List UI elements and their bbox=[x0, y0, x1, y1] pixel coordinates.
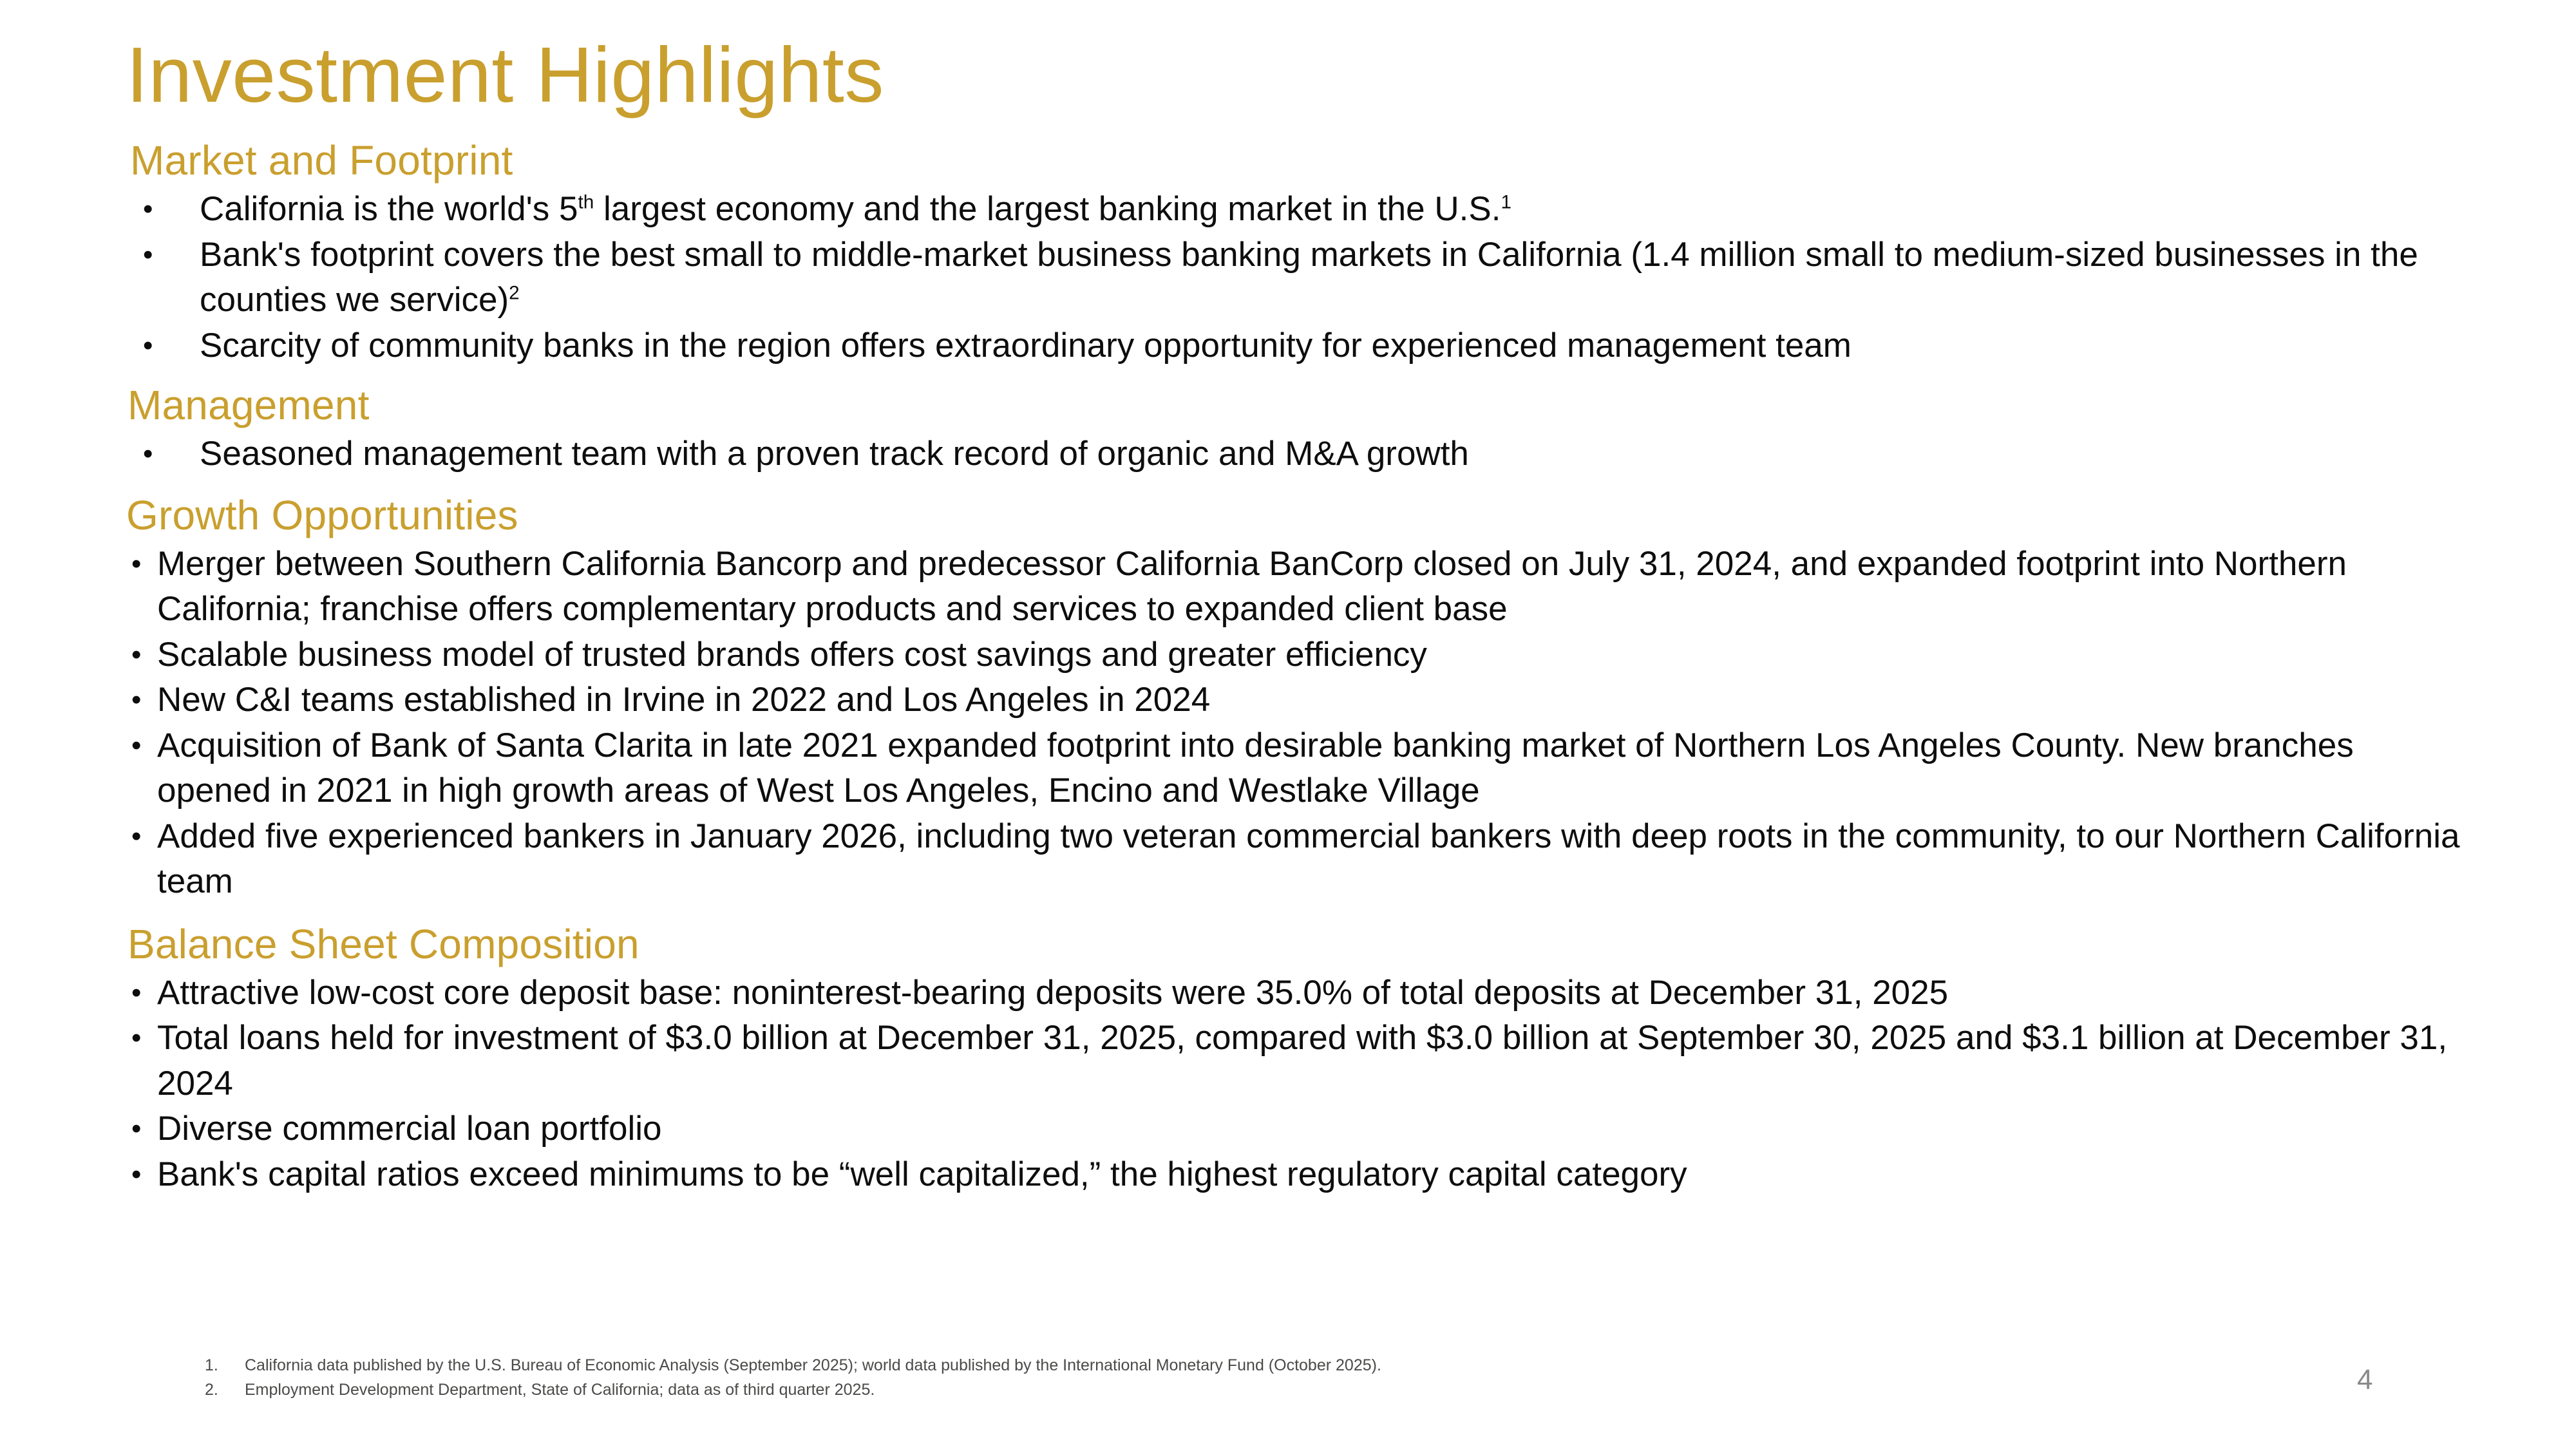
bullet-dot-icon: • bbox=[131, 1106, 143, 1151]
section-heading-growth-opportunities: Growth Opportunities bbox=[126, 490, 2470, 542]
footnote-text: California data published by the U.S. Bu… bbox=[245, 1354, 2201, 1378]
list-item-text: Attractive low-cost core deposit base: n… bbox=[157, 971, 2470, 1016]
footnote-row: 1. California data published by the U.S.… bbox=[205, 1354, 2201, 1378]
page-title: Investment Highlights bbox=[126, 33, 884, 116]
list-item: • Attractive low-cost core deposit base:… bbox=[126, 971, 2470, 1016]
section-balance-sheet-composition: Balance Sheet Composition • Attractive l… bbox=[126, 919, 2470, 1198]
footnote-marker: th bbox=[578, 191, 594, 213]
list-item: • Acquisition of Bank of Santa Clarita i… bbox=[126, 723, 2470, 814]
bullet-dot-icon: • bbox=[131, 971, 143, 1016]
bullet-dot-icon: • bbox=[143, 323, 155, 368]
footnote-text: Employment Development Department, State… bbox=[245, 1378, 2201, 1403]
footnote-marker: 2 bbox=[509, 282, 520, 303]
section-heading-management: Management bbox=[128, 380, 2470, 431]
bullet-list-market-and-footprint: • California is the world's 5th largest … bbox=[126, 187, 2470, 368]
list-item: • Diverse commercial loan portfolio bbox=[126, 1106, 2470, 1151]
bullet-dot-icon: • bbox=[143, 431, 155, 477]
list-item: • California is the world's 5th largest … bbox=[126, 187, 2470, 232]
list-item: • Added five experienced bankers in Janu… bbox=[126, 814, 2470, 905]
list-item: • Merger between Southern California Ban… bbox=[126, 542, 2470, 632]
footnotes: 1. California data published by the U.S.… bbox=[205, 1354, 2201, 1402]
list-item-text: Acquisition of Bank of Santa Clarita in … bbox=[157, 723, 2470, 814]
bullet-list-management: • Seasoned management team with a proven… bbox=[126, 431, 2470, 477]
list-item: • Seasoned management team with a proven… bbox=[126, 431, 2470, 477]
section-management: Management • Seasoned management team wi… bbox=[126, 380, 2470, 477]
footnote-number: 1. bbox=[205, 1354, 245, 1378]
section-heading-market-and-footprint: Market and Footprint bbox=[130, 135, 2470, 187]
list-item: • Scarcity of community banks in the reg… bbox=[126, 323, 2470, 368]
section-heading-balance-sheet-composition: Balance Sheet Composition bbox=[128, 919, 2470, 971]
slide-canvas: Investment Highlights Market and Footpri… bbox=[0, 0, 2576, 1449]
list-item-text: California is the world's 5th largest ec… bbox=[200, 187, 2470, 232]
list-item-text: New C&I teams established in Irvine in 2… bbox=[157, 677, 2470, 723]
list-item-text: Diverse commercial loan portfolio bbox=[157, 1106, 2470, 1151]
bullet-dot-icon: • bbox=[131, 723, 143, 768]
bullet-dot-icon: • bbox=[131, 632, 143, 677]
list-item-text: Total loans held for investment of $3.0 … bbox=[157, 1016, 2470, 1106]
bullet-dot-icon: • bbox=[131, 814, 143, 859]
list-item-text: Scalable business model of trusted brand… bbox=[157, 632, 2470, 677]
bullet-dot-icon: • bbox=[143, 187, 155, 232]
page-number: 4 bbox=[2357, 1364, 2372, 1396]
list-item: • Scalable business model of trusted bra… bbox=[126, 632, 2470, 677]
section-market-and-footprint: Market and Footprint • California is the… bbox=[126, 135, 2470, 368]
bullet-dot-icon: • bbox=[131, 1152, 143, 1197]
list-item: • Bank's footprint covers the best small… bbox=[126, 232, 2470, 323]
list-item-text: Seasoned management team with a proven t… bbox=[200, 431, 2470, 477]
section-growth-opportunities: Growth Opportunities • Merger between So… bbox=[126, 490, 2470, 905]
list-item-text: Merger between Southern California Banco… bbox=[157, 542, 2470, 632]
slide-body: Market and Footprint • California is the… bbox=[126, 135, 2470, 1197]
bullet-dot-icon: • bbox=[143, 232, 155, 278]
list-item-text: Bank's capital ratios exceed minimums to… bbox=[157, 1152, 2470, 1197]
list-item-text: Added five experienced bankers in Januar… bbox=[157, 814, 2470, 905]
list-item: • New C&I teams established in Irvine in… bbox=[126, 677, 2470, 723]
bullet-dot-icon: • bbox=[131, 677, 143, 723]
footnote-marker: 1 bbox=[1501, 191, 1511, 213]
bullet-dot-icon: • bbox=[131, 1016, 143, 1061]
list-item-text: Bank's footprint covers the best small t… bbox=[200, 232, 2470, 323]
list-item: • Bank's capital ratios exceed minimums … bbox=[126, 1152, 2470, 1197]
bullet-list-growth-opportunities: • Merger between Southern California Ban… bbox=[126, 542, 2470, 905]
list-item-text: Scarcity of community banks in the regio… bbox=[200, 323, 2470, 368]
bullet-dot-icon: • bbox=[131, 542, 143, 587]
footnote-row: 2. Employment Development Department, St… bbox=[205, 1378, 2201, 1403]
list-item: • Total loans held for investment of $3.… bbox=[126, 1016, 2470, 1106]
footnote-number: 2. bbox=[205, 1378, 245, 1403]
bullet-list-balance-sheet-composition: • Attractive low-cost core deposit base:… bbox=[126, 971, 2470, 1197]
